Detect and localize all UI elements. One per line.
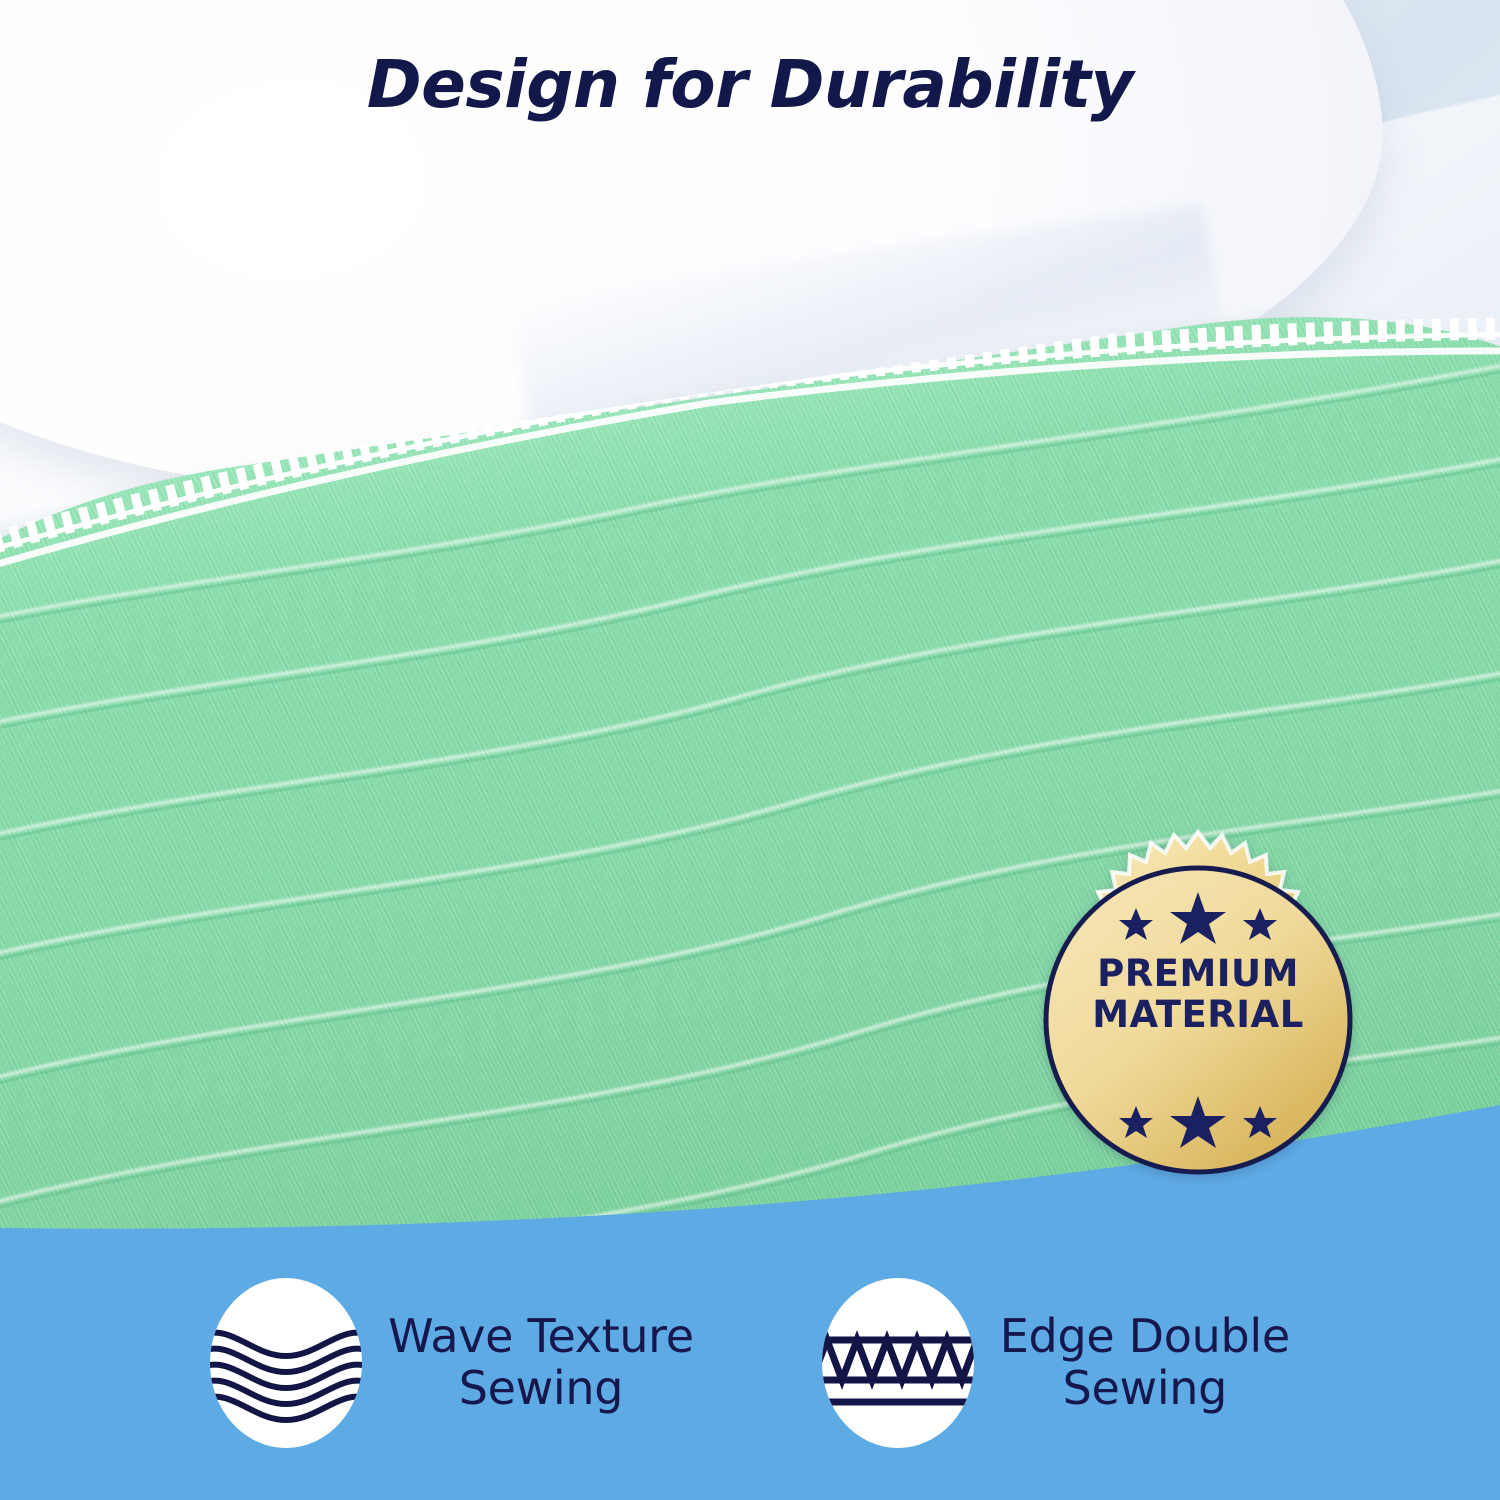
zigzag-stitch-icon — [822, 1278, 974, 1448]
product-infographic: Design for Durability — [0, 0, 1500, 1500]
feature-row: Wave Texture Sewing Edge Double Sewing — [0, 1278, 1500, 1448]
page-title: Design for Durability — [0, 46, 1500, 123]
wave-lines-icon — [210, 1278, 362, 1448]
badge-label: PREMIUM MATERIAL — [1043, 953, 1353, 1036]
feature-wave-texture-sewing[interactable]: Wave Texture Sewing — [210, 1278, 694, 1448]
badge-line-2: MATERIAL — [1043, 994, 1353, 1035]
badge-line-1: PREMIUM — [1043, 953, 1353, 994]
feature-label: Edge Double Sewing — [1000, 1311, 1290, 1414]
feature-label: Wave Texture Sewing — [388, 1311, 694, 1414]
feature-edge-double-sewing[interactable]: Edge Double Sewing — [822, 1278, 1290, 1448]
premium-material-badge: PREMIUM MATERIAL — [1043, 825, 1353, 1215]
